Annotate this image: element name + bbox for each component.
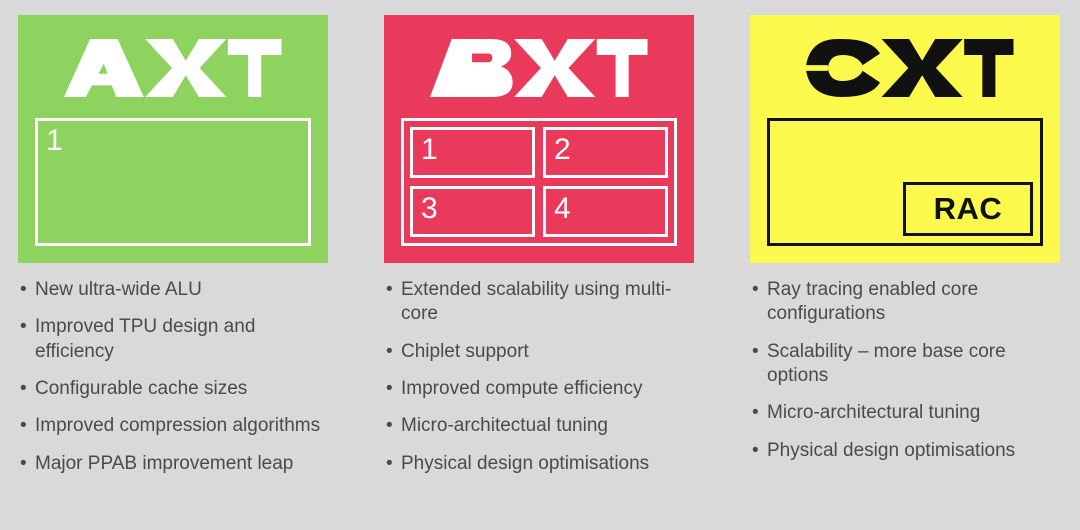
list-item-text: Scalability – more base core options xyxy=(767,341,1006,386)
list-item: • Improved TPU design and efficiency xyxy=(18,315,336,364)
list-item: • Scalability – more base core options xyxy=(750,340,1072,389)
bullet-icon: • xyxy=(386,452,393,476)
product-panel-axt[interactable]: 1 xyxy=(18,15,328,263)
bullet-icon: • xyxy=(20,315,27,339)
list-item: • Extended scalability using multi-core xyxy=(384,278,702,327)
product-column-axt: 1 • New ultra-wide ALU • Improved TPU de… xyxy=(18,0,328,530)
bxt-core-2-label: 2 xyxy=(543,127,668,178)
list-item-text: Improved TPU design and efficiency xyxy=(35,316,255,361)
list-item: • Physical design optimisations xyxy=(384,452,702,476)
list-item-text: Micro-architectual tuning xyxy=(401,415,608,436)
list-item-text: Ray tracing enabled core configurations xyxy=(767,279,978,324)
product-column-cxt: RAC • Ray tracing enabled core configura… xyxy=(750,0,1060,530)
list-item-text: Physical design optimisations xyxy=(767,440,1015,461)
product-column-bxt: 1 2 3 4 • Extended scalability using mul… xyxy=(384,0,694,530)
cxt-core-diagram: RAC xyxy=(767,118,1043,246)
bullet-icon: • xyxy=(20,452,27,476)
bxt-core-1-label: 1 xyxy=(410,127,535,178)
list-item: • Improved compute efficiency xyxy=(384,377,702,401)
bullet-icon: • xyxy=(386,278,393,302)
bullet-icon: • xyxy=(752,340,759,364)
bullet-icon: • xyxy=(386,377,393,401)
cxt-logo xyxy=(750,37,1060,99)
cxt-rac-block: RAC xyxy=(903,182,1033,236)
bxt-logo xyxy=(384,37,694,99)
axt-core-1-label: 1 xyxy=(38,121,308,243)
list-item-text: Micro-architectural tuning xyxy=(767,402,980,423)
bxt-core-4-label: 4 xyxy=(543,186,668,237)
bullet-icon: • xyxy=(386,414,393,438)
list-item-text: Chiplet support xyxy=(401,341,529,362)
list-item: • Ray tracing enabled core configuration… xyxy=(750,278,1072,327)
list-item-text: New ultra-wide ALU xyxy=(35,279,202,300)
list-item: • Improved compression algorithms xyxy=(18,414,336,438)
list-item-text: Major PPAB improvement leap xyxy=(35,453,293,474)
list-item: • Chiplet support xyxy=(384,340,702,364)
list-item: • Configurable cache sizes xyxy=(18,377,336,401)
product-panel-cxt[interactable]: RAC xyxy=(750,15,1060,263)
cxt-feature-list: • Ray tracing enabled core configuration… xyxy=(750,278,1072,463)
bullet-icon: • xyxy=(20,377,27,401)
bullet-icon: • xyxy=(386,340,393,364)
list-item: • New ultra-wide ALU xyxy=(18,278,336,302)
bullet-icon: • xyxy=(20,414,27,438)
bullet-icon: • xyxy=(752,278,759,302)
bxt-core-3-label: 3 xyxy=(410,186,535,237)
bullet-icon: • xyxy=(752,401,759,425)
cxt-rac-label: RAC xyxy=(934,191,1003,227)
list-item-text: Improved compute efficiency xyxy=(401,378,643,399)
list-item: • Micro-architectural tuning xyxy=(750,401,1072,425)
list-item-text: Configurable cache sizes xyxy=(35,378,247,399)
list-item-text: Extended scalability using multi-core xyxy=(401,279,671,324)
product-panel-bxt[interactable]: 1 2 3 4 xyxy=(384,15,694,263)
bxt-feature-list: • Extended scalability using multi-core … xyxy=(384,278,702,476)
list-item: • Micro-architectual tuning xyxy=(384,414,702,438)
comparison-board: 1 • New ultra-wide ALU • Improved TPU de… xyxy=(0,0,1080,530)
bullet-icon: • xyxy=(20,278,27,302)
axt-feature-list: • New ultra-wide ALU • Improved TPU desi… xyxy=(18,278,336,476)
list-item-text: Improved compression algorithms xyxy=(35,415,320,436)
list-item: • Major PPAB improvement leap xyxy=(18,452,336,476)
list-item-text: Physical design optimisations xyxy=(401,453,649,474)
bullet-icon: • xyxy=(752,439,759,463)
list-item: • Physical design optimisations xyxy=(750,439,1072,463)
axt-core-diagram: 1 xyxy=(35,118,311,246)
bxt-core-diagram: 1 2 3 4 xyxy=(401,118,677,246)
bxt-core-grid: 1 2 3 4 xyxy=(410,127,668,237)
axt-logo xyxy=(18,37,328,99)
